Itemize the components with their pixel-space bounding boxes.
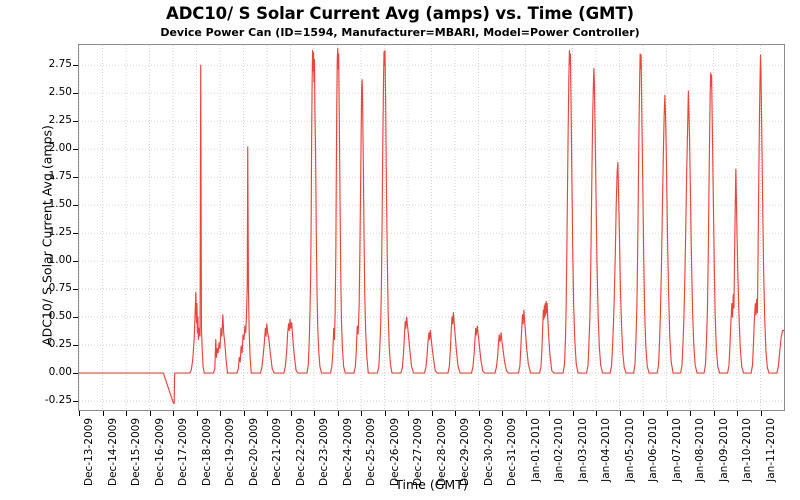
x-tick-label: Dec-15-2009 [130, 418, 142, 486]
x-tick-mark [408, 411, 409, 416]
x-tick-label: Dec-18-2009 [201, 418, 213, 486]
y-tick-label: 1.75 [49, 170, 72, 182]
x-tick-label: Jan-02-2010 [553, 418, 565, 482]
x-tick-label: Jan-10-2010 [741, 418, 753, 482]
chart-figure: ADC10/ S Solar Current Avg (amps) vs. Ti… [0, 0, 800, 500]
x-tick-label: Dec-24-2009 [342, 418, 354, 486]
x-tick-label: Dec-19-2009 [224, 418, 236, 486]
x-tick-mark [643, 411, 644, 416]
x-tick-mark [79, 411, 80, 416]
y-tick-label: 2.50 [49, 86, 72, 98]
x-tick-mark [596, 411, 597, 416]
x-tick-label: Dec-20-2009 [248, 418, 260, 486]
plot-svg [79, 45, 784, 410]
x-tick-mark [479, 411, 480, 416]
grid-lines [79, 45, 784, 410]
x-tick-mark [314, 411, 315, 416]
x-tick-mark [291, 411, 292, 416]
x-tick-label: Dec-27-2009 [412, 418, 424, 486]
chart-subtitle: Device Power Can (ID=1594, Manufacturer=… [0, 26, 800, 39]
x-tick-label: Dec-14-2009 [107, 418, 119, 486]
x-tick-mark [502, 411, 503, 416]
x-tick-mark [126, 411, 127, 416]
x-tick-label: Jan-03-2010 [577, 418, 589, 482]
y-tick-label: 2.00 [49, 142, 72, 154]
y-tick-label: 2.75 [49, 58, 72, 70]
y-axis-tick-labels: -0.250.000.250.500.751.001.251.501.752.0… [0, 0, 72, 500]
y-tick-label: 2.25 [49, 114, 72, 126]
y-tick-label: 1.00 [49, 254, 72, 266]
y-tick-label: 0.25 [49, 338, 72, 350]
x-tick-label: Dec-22-2009 [295, 418, 307, 486]
y-tick-label: 1.50 [49, 198, 72, 210]
page-title: ADC10/ S Solar Current Avg (amps) vs. Ti… [0, 4, 800, 23]
x-tick-mark [197, 411, 198, 416]
x-tick-mark [455, 411, 456, 416]
x-tick-label: Dec-30-2009 [483, 418, 495, 486]
x-tick-mark [761, 411, 762, 416]
x-tick-label: Jan-05-2010 [624, 418, 636, 482]
x-tick-mark [737, 411, 738, 416]
y-tick-label: 0.00 [49, 366, 72, 378]
x-tick-label: Dec-31-2009 [506, 418, 518, 486]
x-tick-mark [620, 411, 621, 416]
x-tick-label: Jan-04-2010 [600, 418, 612, 482]
x-tick-mark [714, 411, 715, 416]
x-tick-mark [103, 411, 104, 416]
x-tick-label: Dec-26-2009 [389, 418, 401, 486]
x-tick-mark [432, 411, 433, 416]
x-tick-label: Jan-08-2010 [694, 418, 706, 482]
plot-area [78, 44, 785, 411]
x-tick-label: Dec-13-2009 [83, 418, 95, 486]
x-tick-label: Dec-21-2009 [271, 418, 283, 486]
x-tick-label: Dec-29-2009 [459, 418, 471, 486]
x-tick-mark [549, 411, 550, 416]
x-tick-label: Dec-28-2009 [436, 418, 448, 486]
x-tick-label: Dec-23-2009 [318, 418, 330, 486]
x-tick-label: Jan-11-2010 [765, 418, 777, 482]
x-tick-mark [267, 411, 268, 416]
y-tick-label: 0.75 [49, 282, 72, 294]
y-tick-label: 1.25 [49, 226, 72, 238]
x-tick-mark [385, 411, 386, 416]
x-tick-mark [338, 411, 339, 416]
x-tick-label: Dec-16-2009 [154, 418, 166, 486]
x-tick-label: Jan-09-2010 [718, 418, 730, 482]
x-tick-mark [361, 411, 362, 416]
x-tick-mark [173, 411, 174, 416]
x-tick-mark [690, 411, 691, 416]
x-tick-label: Jan-07-2010 [671, 418, 683, 482]
y-tick-label: 0.50 [49, 310, 72, 322]
x-tick-label: Jan-01-2010 [530, 418, 542, 482]
x-tick-label: Dec-25-2009 [365, 418, 377, 486]
x-tick-mark [573, 411, 574, 416]
y-tick-label: -0.25 [45, 394, 72, 406]
x-tick-label: Jan-06-2010 [647, 418, 659, 482]
x-tick-mark [244, 411, 245, 416]
x-tick-label: Dec-17-2009 [177, 418, 189, 486]
x-tick-mark [667, 411, 668, 416]
x-tick-mark [526, 411, 527, 416]
x-tick-mark [220, 411, 221, 416]
x-tick-mark [150, 411, 151, 416]
